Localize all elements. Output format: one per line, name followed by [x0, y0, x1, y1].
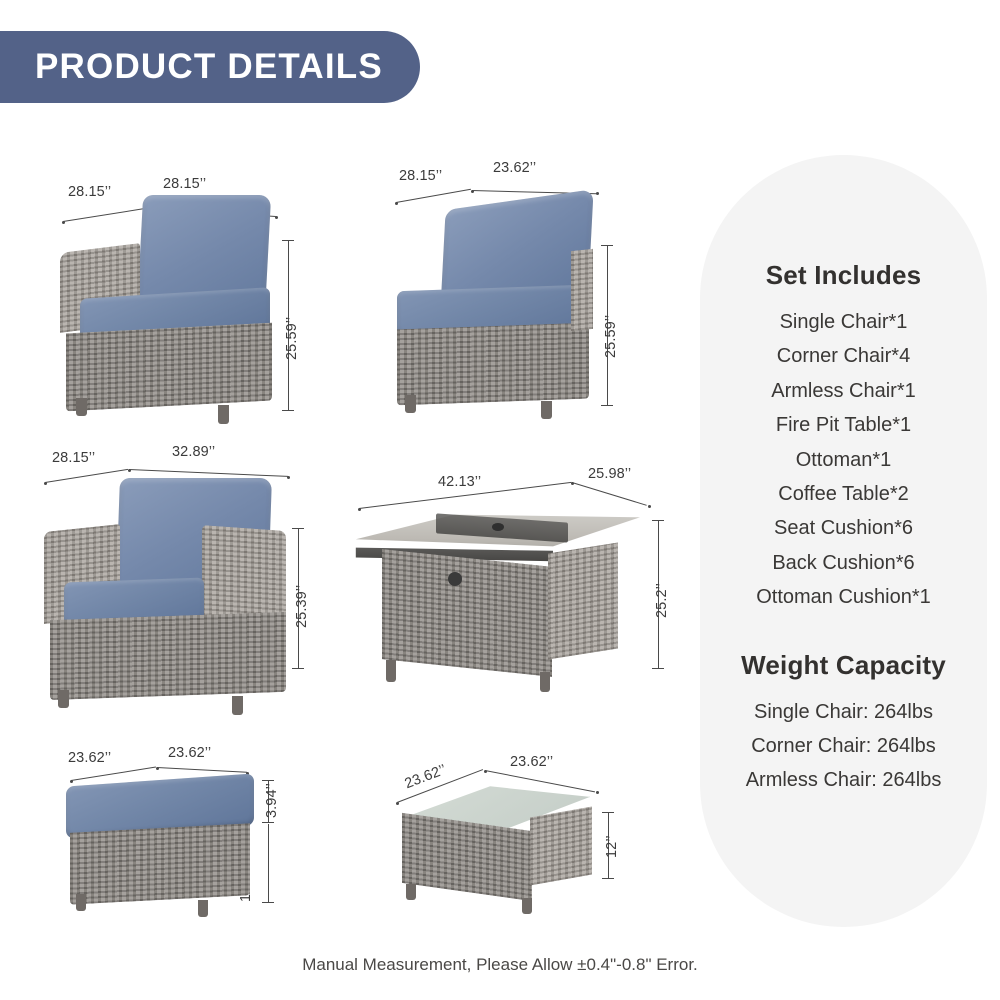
dim-label-width: 23.62’’ [493, 160, 536, 176]
dim-line-depth [71, 767, 156, 781]
dim-label-height: 25.2’’ [654, 583, 670, 618]
dim-tick-bottom [601, 405, 613, 406]
chair-leg [58, 690, 69, 708]
burner-port-icon [492, 523, 504, 531]
list-item: Seat Cushion*6 [700, 511, 987, 545]
dim-line-depth [63, 208, 144, 222]
weight-capacity-title: Weight Capacity [741, 650, 946, 681]
dim-line-depth [572, 482, 647, 506]
list-item: Single Chair*1 [700, 305, 987, 339]
dim-label-width: 23.62’’ [510, 754, 553, 770]
dim-tick-bottom [292, 668, 304, 669]
ottoman-leg [198, 900, 208, 917]
table-leg [386, 660, 396, 682]
dim-tick-top [602, 812, 614, 813]
chair-leg [232, 696, 243, 715]
table-leg [540, 672, 550, 692]
weight-capacity-list: Single Chair: 264lbs Corner Chair: 264lb… [700, 695, 987, 798]
dim-tick-top [601, 245, 613, 246]
measurement-note: Manual Measurement, Please Allow ±0.4"-0… [0, 955, 1000, 975]
header-banner: PRODUCT DETAILS [0, 31, 420, 103]
control-knob-icon [448, 572, 462, 586]
chair-leg [405, 395, 416, 413]
chair-base [50, 612, 286, 700]
dim-line-depth [45, 469, 128, 483]
dim-label-depth: 28.15’’ [399, 168, 442, 184]
ottoman-base [70, 823, 250, 904]
table-body-side [548, 542, 618, 659]
list-item: Coffee Table*2 [700, 477, 987, 511]
dim-label-width: 32.89’’ [172, 444, 215, 460]
list-item: Armless Chair: 264lbs [700, 763, 987, 797]
dim-label-width: 42.13’’ [438, 474, 481, 490]
dim-label-depth: 28.15’’ [52, 450, 95, 466]
product-single-chair: 28.15’’ 32.89’’ 25.39’’ [20, 450, 360, 725]
product-armless-chair: 28.15’’ 23.62’’ 25.59’’ [375, 160, 665, 420]
dim-line-base-height [268, 824, 269, 902]
list-item: Back Cushion*6 [700, 546, 987, 580]
dim-endpoint [596, 192, 599, 195]
dim-label-depth: 23.62’’ [68, 750, 111, 766]
list-item: Ottoman Cushion*1 [700, 580, 987, 614]
product-ottoman: 23.62’’ 23.62’’ 3.94’’ 11.81’’ [40, 750, 320, 940]
set-includes-list: Single Chair*1 Corner Chair*4 Armless Ch… [700, 305, 987, 615]
chair-base [397, 323, 589, 406]
list-item: Fire Pit Table*1 [700, 408, 987, 442]
dim-label-height: 25.59’’ [284, 317, 300, 360]
chair-back-frame [571, 249, 593, 331]
dim-line-width [129, 469, 288, 477]
table-leg [406, 884, 416, 900]
table-body-front [382, 549, 552, 677]
dim-tick [262, 902, 274, 903]
dim-tick-bottom [282, 410, 294, 411]
product-corner-chair: 28.15’’ 28.15’’ 25.59’’ [40, 160, 340, 420]
table-frame-side [530, 807, 592, 886]
list-item: Ottoman*1 [700, 443, 987, 477]
dim-line-width [157, 767, 247, 773]
dim-label-depth: 25.98’’ [588, 466, 631, 482]
set-includes-title: Set Includes [766, 260, 922, 291]
chair-leg [541, 401, 552, 419]
chair-leg [218, 405, 229, 424]
page-title: PRODUCT DETAILS [0, 47, 383, 87]
dim-label-height: 25.59’’ [603, 315, 619, 358]
dim-label-cushion-height: 3.94’’ [264, 783, 280, 818]
dim-tick [262, 822, 274, 823]
chair-base [66, 323, 272, 412]
table-leg [522, 898, 532, 914]
list-item: Single Chair: 264lbs [700, 695, 987, 729]
dim-label-width: 28.15’’ [163, 176, 206, 192]
dim-endpoint [287, 476, 290, 479]
dim-tick-top [282, 240, 294, 241]
list-item: Armless Chair*1 [700, 374, 987, 408]
dim-label-height: 25.39’’ [294, 585, 310, 628]
dim-tick-top [292, 528, 304, 529]
dim-tick-bottom [602, 878, 614, 879]
dim-label-height: 12’’ [604, 835, 620, 858]
dim-label-width: 23.62’’ [168, 745, 211, 761]
info-panel: Set Includes Single Chair*1 Corner Chair… [700, 155, 987, 927]
list-item: Corner Chair*4 [700, 339, 987, 373]
product-fire-pit-table: 42.13’’ 25.98’’ 25.2’’ [340, 460, 690, 725]
dim-label-depth: 28.15’’ [68, 184, 111, 200]
dim-tick-top [652, 520, 664, 521]
dim-tick-bottom [652, 668, 664, 669]
dim-tick [262, 780, 274, 781]
dim-endpoint [275, 216, 278, 219]
product-details-infographic: PRODUCT DETAILS 28.15’’ 28.15’’ 25.59’’ … [0, 0, 1000, 1000]
chair-leg [76, 398, 87, 416]
dim-label-depth: 23.62’’ [403, 762, 449, 792]
product-coffee-table: 23.62’’ 23.62’’ 12’’ [380, 750, 660, 940]
dim-endpoint [648, 505, 651, 508]
dim-line-depth [396, 189, 471, 203]
list-item: Corner Chair: 264lbs [700, 729, 987, 763]
dim-endpoint [596, 791, 599, 794]
ottoman-leg [76, 894, 86, 911]
